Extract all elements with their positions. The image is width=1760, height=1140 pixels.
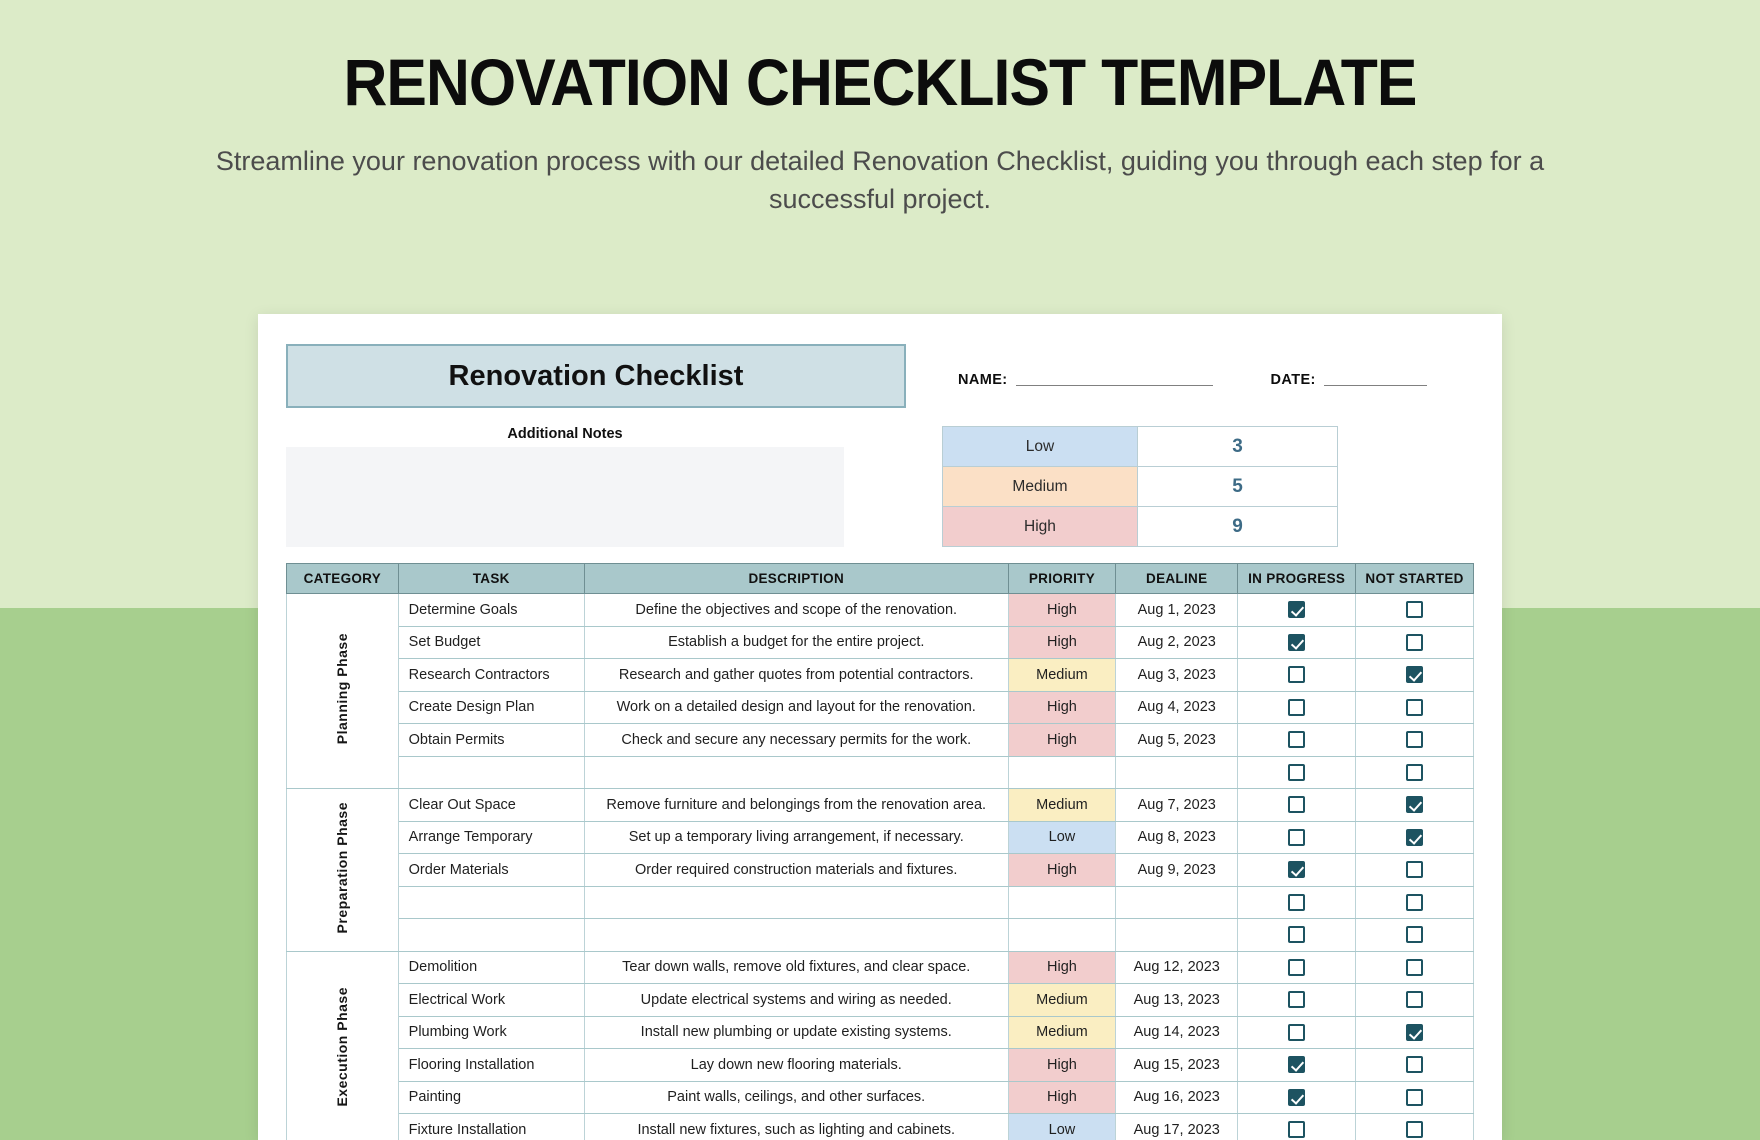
not-started-checkbox[interactable]: [1406, 1056, 1423, 1073]
table-header-row: CATEGORY TASK DESCRIPTION PRIORITY DEALI…: [287, 564, 1474, 594]
legend-count-medium: 5: [1138, 467, 1338, 507]
table-row: Create Design PlanWork on a detailed des…: [287, 691, 1474, 724]
not-started-checkbox-cell: [1356, 724, 1474, 757]
in-progress-checkbox-cell: [1238, 951, 1356, 984]
header-task: TASK: [398, 564, 584, 594]
description-cell[interactable]: Update electrical systems and wiring as …: [584, 984, 1008, 1017]
table-row: Preparation PhaseClear Out SpaceRemove f…: [287, 789, 1474, 822]
in-progress-checkbox-cell: [1238, 724, 1356, 757]
in-progress-checkbox[interactable]: [1288, 959, 1305, 976]
table-row: Obtain PermitsCheck and secure any neces…: [287, 724, 1474, 757]
in-progress-checkbox[interactable]: [1288, 894, 1305, 911]
deadline-cell[interactable]: [1116, 886, 1238, 919]
not-started-checkbox-cell: [1356, 886, 1474, 919]
not-started-checkbox-cell: [1356, 984, 1474, 1017]
category-cell: Planning Phase: [287, 594, 399, 789]
description-cell[interactable]: Establish a budget for the entire projec…: [584, 626, 1008, 659]
in-progress-checkbox-cell: [1238, 756, 1356, 789]
table-row: Fixture InstallationInstall new fixtures…: [287, 1114, 1474, 1140]
not-started-checkbox[interactable]: [1406, 991, 1423, 1008]
not-started-checkbox[interactable]: [1406, 1024, 1423, 1041]
priority-legend-table: Low 3 Medium 5 High 9: [942, 426, 1338, 547]
not-started-checkbox[interactable]: [1406, 666, 1423, 683]
table-row: Set BudgetEstablish a budget for the ent…: [287, 626, 1474, 659]
not-started-checkbox-cell: [1356, 1049, 1474, 1082]
in-progress-checkbox[interactable]: [1288, 1121, 1305, 1138]
name-date-group: NAME: DATE:: [906, 344, 1474, 388]
header-priority: PRIORITY: [1008, 564, 1116, 594]
legend-label-low: Low: [943, 427, 1138, 467]
deadline-cell[interactable]: Aug 2, 2023: [1116, 626, 1238, 659]
not-started-checkbox-cell: [1356, 659, 1474, 692]
priority-cell[interactable]: Medium: [1008, 1016, 1116, 1049]
deadline-cell[interactable]: [1116, 919, 1238, 952]
not-started-checkbox[interactable]: [1406, 1121, 1423, 1138]
in-progress-checkbox[interactable]: [1288, 634, 1305, 651]
table-row: Research ContractorsResearch and gather …: [287, 659, 1474, 692]
category-label: Planning Phase: [334, 633, 350, 744]
deadline-cell[interactable]: Aug 15, 2023: [1116, 1049, 1238, 1082]
deadline-cell[interactable]: Aug 8, 2023: [1116, 821, 1238, 854]
notes-and-legend-row: Additional Notes Low 3 Medium 5: [286, 426, 1474, 547]
in-progress-checkbox[interactable]: [1288, 601, 1305, 618]
name-input[interactable]: [1016, 385, 1213, 386]
deadline-cell[interactable]: Aug 17, 2023: [1116, 1114, 1238, 1140]
legend-label-medium: Medium: [943, 467, 1138, 507]
checklist-title: Renovation Checklist: [449, 360, 744, 393]
deadline-cell[interactable]: Aug 13, 2023: [1116, 984, 1238, 1017]
task-cell[interactable]: [398, 919, 584, 952]
not-started-checkbox[interactable]: [1406, 959, 1423, 976]
date-label: DATE:: [1271, 372, 1316, 388]
not-started-checkbox[interactable]: [1406, 894, 1423, 911]
header-category: CATEGORY: [287, 564, 399, 594]
not-started-checkbox-cell: [1356, 789, 1474, 822]
deadline-cell[interactable]: Aug 1, 2023: [1116, 594, 1238, 627]
task-cell[interactable]: Set Budget: [398, 626, 584, 659]
table-row: Plumbing WorkInstall new plumbing or upd…: [287, 1016, 1474, 1049]
header-deadline: DEALINE: [1116, 564, 1238, 594]
header-description: DESCRIPTION: [584, 564, 1008, 594]
not-started-checkbox-cell: [1356, 1016, 1474, 1049]
sheet-header-row: Renovation Checklist NAME: DATE:: [286, 344, 1474, 408]
description-cell[interactable]: Install new fixtures, such as lighting a…: [584, 1114, 1008, 1140]
in-progress-checkbox[interactable]: [1288, 1024, 1305, 1041]
legend-row-medium: Medium 5: [943, 467, 1338, 507]
not-started-checkbox-cell: [1356, 854, 1474, 887]
description-cell[interactable]: Lay down new flooring materials.: [584, 1049, 1008, 1082]
name-field-group: NAME:: [958, 372, 1213, 388]
table-row: [287, 756, 1474, 789]
task-cell[interactable]: [398, 886, 584, 919]
in-progress-checkbox[interactable]: [1288, 764, 1305, 781]
priority-cell[interactable]: Medium: [1008, 789, 1116, 822]
priority-cell[interactable]: Low: [1008, 821, 1116, 854]
additional-notes-label: Additional Notes: [286, 426, 844, 442]
legend-count-low: 3: [1138, 427, 1338, 467]
page-root: RENOVATION CHECKLIST TEMPLATE Streamline…: [0, 0, 1760, 1140]
in-progress-checkbox[interactable]: [1288, 991, 1305, 1008]
not-started-checkbox-cell: [1356, 919, 1474, 952]
name-label: NAME:: [958, 372, 1008, 388]
task-cell[interactable]: Obtain Permits: [398, 724, 584, 757]
description-cell[interactable]: Define the objectives and scope of the r…: [584, 594, 1008, 627]
hero-section: RENOVATION CHECKLIST TEMPLATE Streamline…: [0, 0, 1760, 218]
table-row: Order MaterialsOrder required constructi…: [287, 854, 1474, 887]
in-progress-checkbox-cell: [1238, 1016, 1356, 1049]
task-cell[interactable]: Research Contractors: [398, 659, 584, 692]
table-row: Flooring InstallationLay down new floori…: [287, 1049, 1474, 1082]
table-row: Execution PhaseDemolitionTear down walls…: [287, 951, 1474, 984]
priority-cell[interactable]: High: [1008, 594, 1116, 627]
priority-cell[interactable]: [1008, 756, 1116, 789]
priority-cell[interactable]: High: [1008, 626, 1116, 659]
in-progress-checkbox-cell: [1238, 984, 1356, 1017]
date-input[interactable]: [1324, 385, 1427, 386]
not-started-checkbox-cell: [1356, 821, 1474, 854]
deadline-cell[interactable]: Aug 14, 2023: [1116, 1016, 1238, 1049]
deadline-cell[interactable]: Aug 12, 2023: [1116, 951, 1238, 984]
task-cell[interactable]: Painting: [398, 1081, 584, 1114]
in-progress-checkbox-cell: [1238, 1049, 1356, 1082]
priority-cell[interactable]: [1008, 919, 1116, 952]
task-cell[interactable]: Plumbing Work: [398, 1016, 584, 1049]
table-row: Arrange TemporarySet up a temporary livi…: [287, 821, 1474, 854]
deadline-cell[interactable]: Aug 4, 2023: [1116, 691, 1238, 724]
priority-cell[interactable]: Medium: [1008, 984, 1116, 1017]
in-progress-checkbox[interactable]: [1288, 1089, 1305, 1106]
in-progress-checkbox-cell: [1238, 594, 1356, 627]
notes-column: Additional Notes: [286, 426, 844, 547]
priority-cell[interactable]: Low: [1008, 1114, 1116, 1140]
priority-cell[interactable]: High: [1008, 854, 1116, 887]
in-progress-checkbox-cell: [1238, 854, 1356, 887]
category-cell: Preparation Phase: [287, 789, 399, 952]
in-progress-checkbox[interactable]: [1288, 926, 1305, 943]
document-sheet: Renovation Checklist NAME: DATE: A: [258, 314, 1502, 1140]
legend-row-high: High 9: [943, 507, 1338, 547]
description-cell[interactable]: Install new plumbing or update existing …: [584, 1016, 1008, 1049]
in-progress-checkbox[interactable]: [1288, 666, 1305, 683]
not-started-checkbox[interactable]: [1406, 699, 1423, 716]
not-started-checkbox[interactable]: [1406, 731, 1423, 748]
task-cell[interactable]: Order Materials: [398, 854, 584, 887]
legend-label-high: High: [943, 507, 1138, 547]
additional-notes-input[interactable]: [286, 447, 844, 547]
checklist-table: CATEGORY TASK DESCRIPTION PRIORITY DEALI…: [286, 563, 1474, 1140]
in-progress-checkbox-cell: [1238, 789, 1356, 822]
in-progress-checkbox-cell: [1238, 659, 1356, 692]
description-cell[interactable]: [584, 756, 1008, 789]
description-cell[interactable]: Work on a detailed design and layout for…: [584, 691, 1008, 724]
legend-row-low: Low 3: [943, 427, 1338, 467]
description-cell[interactable]: Order required construction materials an…: [584, 854, 1008, 887]
task-cell[interactable]: Clear Out Space: [398, 789, 584, 822]
deadline-cell[interactable]: Aug 7, 2023: [1116, 789, 1238, 822]
in-progress-checkbox[interactable]: [1288, 861, 1305, 878]
table-row: [287, 919, 1474, 952]
task-cell[interactable]: Fixture Installation: [398, 1114, 584, 1140]
not-started-checkbox-cell: [1356, 1114, 1474, 1140]
description-cell[interactable]: [584, 919, 1008, 952]
in-progress-checkbox-cell: [1238, 626, 1356, 659]
not-started-checkbox-cell: [1356, 756, 1474, 789]
header-in-progress: IN PROGRESS: [1238, 564, 1356, 594]
not-started-checkbox-cell: [1356, 626, 1474, 659]
legend-count-high: 9: [1138, 507, 1338, 547]
priority-cell[interactable]: High: [1008, 1049, 1116, 1082]
header-not-started: NOT STARTED: [1356, 564, 1474, 594]
priority-cell[interactable]: Medium: [1008, 659, 1116, 692]
table-row: Electrical WorkUpdate electrical systems…: [287, 984, 1474, 1017]
page-title: RENOVATION CHECKLIST TEMPLATE: [70, 48, 1689, 117]
deadline-cell[interactable]: Aug 9, 2023: [1116, 854, 1238, 887]
not-started-checkbox[interactable]: [1406, 796, 1423, 813]
task-cell[interactable]: Electrical Work: [398, 984, 584, 1017]
not-started-checkbox[interactable]: [1406, 601, 1423, 618]
checklist-table-wrap: CATEGORY TASK DESCRIPTION PRIORITY DEALI…: [286, 563, 1474, 1140]
table-row: PaintingPaint walls, ceilings, and other…: [287, 1081, 1474, 1114]
not-started-checkbox[interactable]: [1406, 634, 1423, 651]
priority-cell[interactable]: High: [1008, 724, 1116, 757]
in-progress-checkbox[interactable]: [1288, 829, 1305, 846]
deadline-cell[interactable]: Aug 5, 2023: [1116, 724, 1238, 757]
deadline-cell[interactable]: Aug 3, 2023: [1116, 659, 1238, 692]
priority-cell[interactable]: [1008, 886, 1116, 919]
task-cell[interactable]: Demolition: [398, 951, 584, 984]
description-cell[interactable]: Research and gather quotes from potentia…: [584, 659, 1008, 692]
not-started-checkbox[interactable]: [1406, 1089, 1423, 1106]
in-progress-checkbox-cell: [1238, 1114, 1356, 1140]
task-cell[interactable]: [398, 756, 584, 789]
not-started-checkbox[interactable]: [1406, 764, 1423, 781]
category-cell: Execution Phase: [287, 951, 399, 1140]
task-cell[interactable]: Flooring Installation: [398, 1049, 584, 1082]
category-label: Execution Phase: [334, 987, 350, 1107]
in-progress-checkbox-cell: [1238, 691, 1356, 724]
in-progress-checkbox[interactable]: [1288, 699, 1305, 716]
priority-cell[interactable]: High: [1008, 691, 1116, 724]
not-started-checkbox-cell: [1356, 951, 1474, 984]
not-started-checkbox[interactable]: [1406, 926, 1423, 943]
table-row: [287, 886, 1474, 919]
priority-cell[interactable]: High: [1008, 1081, 1116, 1114]
checklist-title-box: Renovation Checklist: [286, 344, 906, 408]
description-cell[interactable]: Tear down walls, remove old fixtures, an…: [584, 951, 1008, 984]
not-started-checkbox[interactable]: [1406, 861, 1423, 878]
table-row: Planning PhaseDetermine GoalsDefine the …: [287, 594, 1474, 627]
description-cell[interactable]: Set up a temporary living arrangement, i…: [584, 821, 1008, 854]
category-label: Preparation Phase: [334, 802, 350, 933]
in-progress-checkbox-cell: [1238, 1081, 1356, 1114]
not-started-checkbox-cell: [1356, 1081, 1474, 1114]
task-cell[interactable]: Determine Goals: [398, 594, 584, 627]
in-progress-checkbox[interactable]: [1288, 1056, 1305, 1073]
in-progress-checkbox-cell: [1238, 821, 1356, 854]
deadline-cell[interactable]: [1116, 756, 1238, 789]
not-started-checkbox-cell: [1356, 691, 1474, 724]
in-progress-checkbox-cell: [1238, 886, 1356, 919]
date-field-group: DATE:: [1271, 372, 1427, 388]
description-cell[interactable]: [584, 886, 1008, 919]
description-cell[interactable]: Check and secure any necessary permits f…: [584, 724, 1008, 757]
in-progress-checkbox[interactable]: [1288, 796, 1305, 813]
page-subtitle: Streamline your renovation process with …: [210, 143, 1550, 218]
task-cell[interactable]: Arrange Temporary: [398, 821, 584, 854]
in-progress-checkbox-cell: [1238, 919, 1356, 952]
in-progress-checkbox[interactable]: [1288, 731, 1305, 748]
not-started-checkbox-cell: [1356, 594, 1474, 627]
description-cell[interactable]: Remove furniture and belongings from the…: [584, 789, 1008, 822]
deadline-cell[interactable]: Aug 16, 2023: [1116, 1081, 1238, 1114]
checklist-table-body: Planning PhaseDetermine GoalsDefine the …: [287, 594, 1474, 1140]
task-cell[interactable]: Create Design Plan: [398, 691, 584, 724]
priority-cell[interactable]: High: [1008, 951, 1116, 984]
not-started-checkbox[interactable]: [1406, 829, 1423, 846]
description-cell[interactable]: Paint walls, ceilings, and other surface…: [584, 1081, 1008, 1114]
